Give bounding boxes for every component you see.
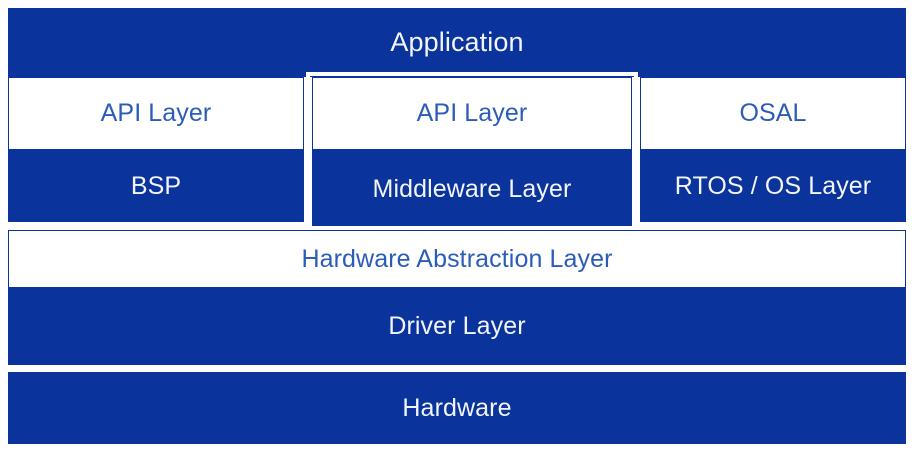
layer-rtos-os: RTOS / OS Layer (640, 150, 906, 222)
architecture-stack-diagram: Application API Layer BSP API Layer Midd… (0, 0, 914, 452)
layer-osal: OSAL (640, 77, 906, 150)
layer-hardware: Hardware (8, 372, 906, 444)
layer-api-middle: API Layer (312, 77, 632, 150)
layer-api-left: API Layer (8, 77, 304, 150)
layer-bsp: BSP (8, 150, 304, 222)
layer-driver: Driver Layer (8, 288, 906, 365)
layer-middleware: Middleware Layer (312, 150, 632, 228)
layer-hardware-abstraction: Hardware Abstraction Layer (8, 230, 906, 288)
layer-application: Application (8, 8, 906, 77)
